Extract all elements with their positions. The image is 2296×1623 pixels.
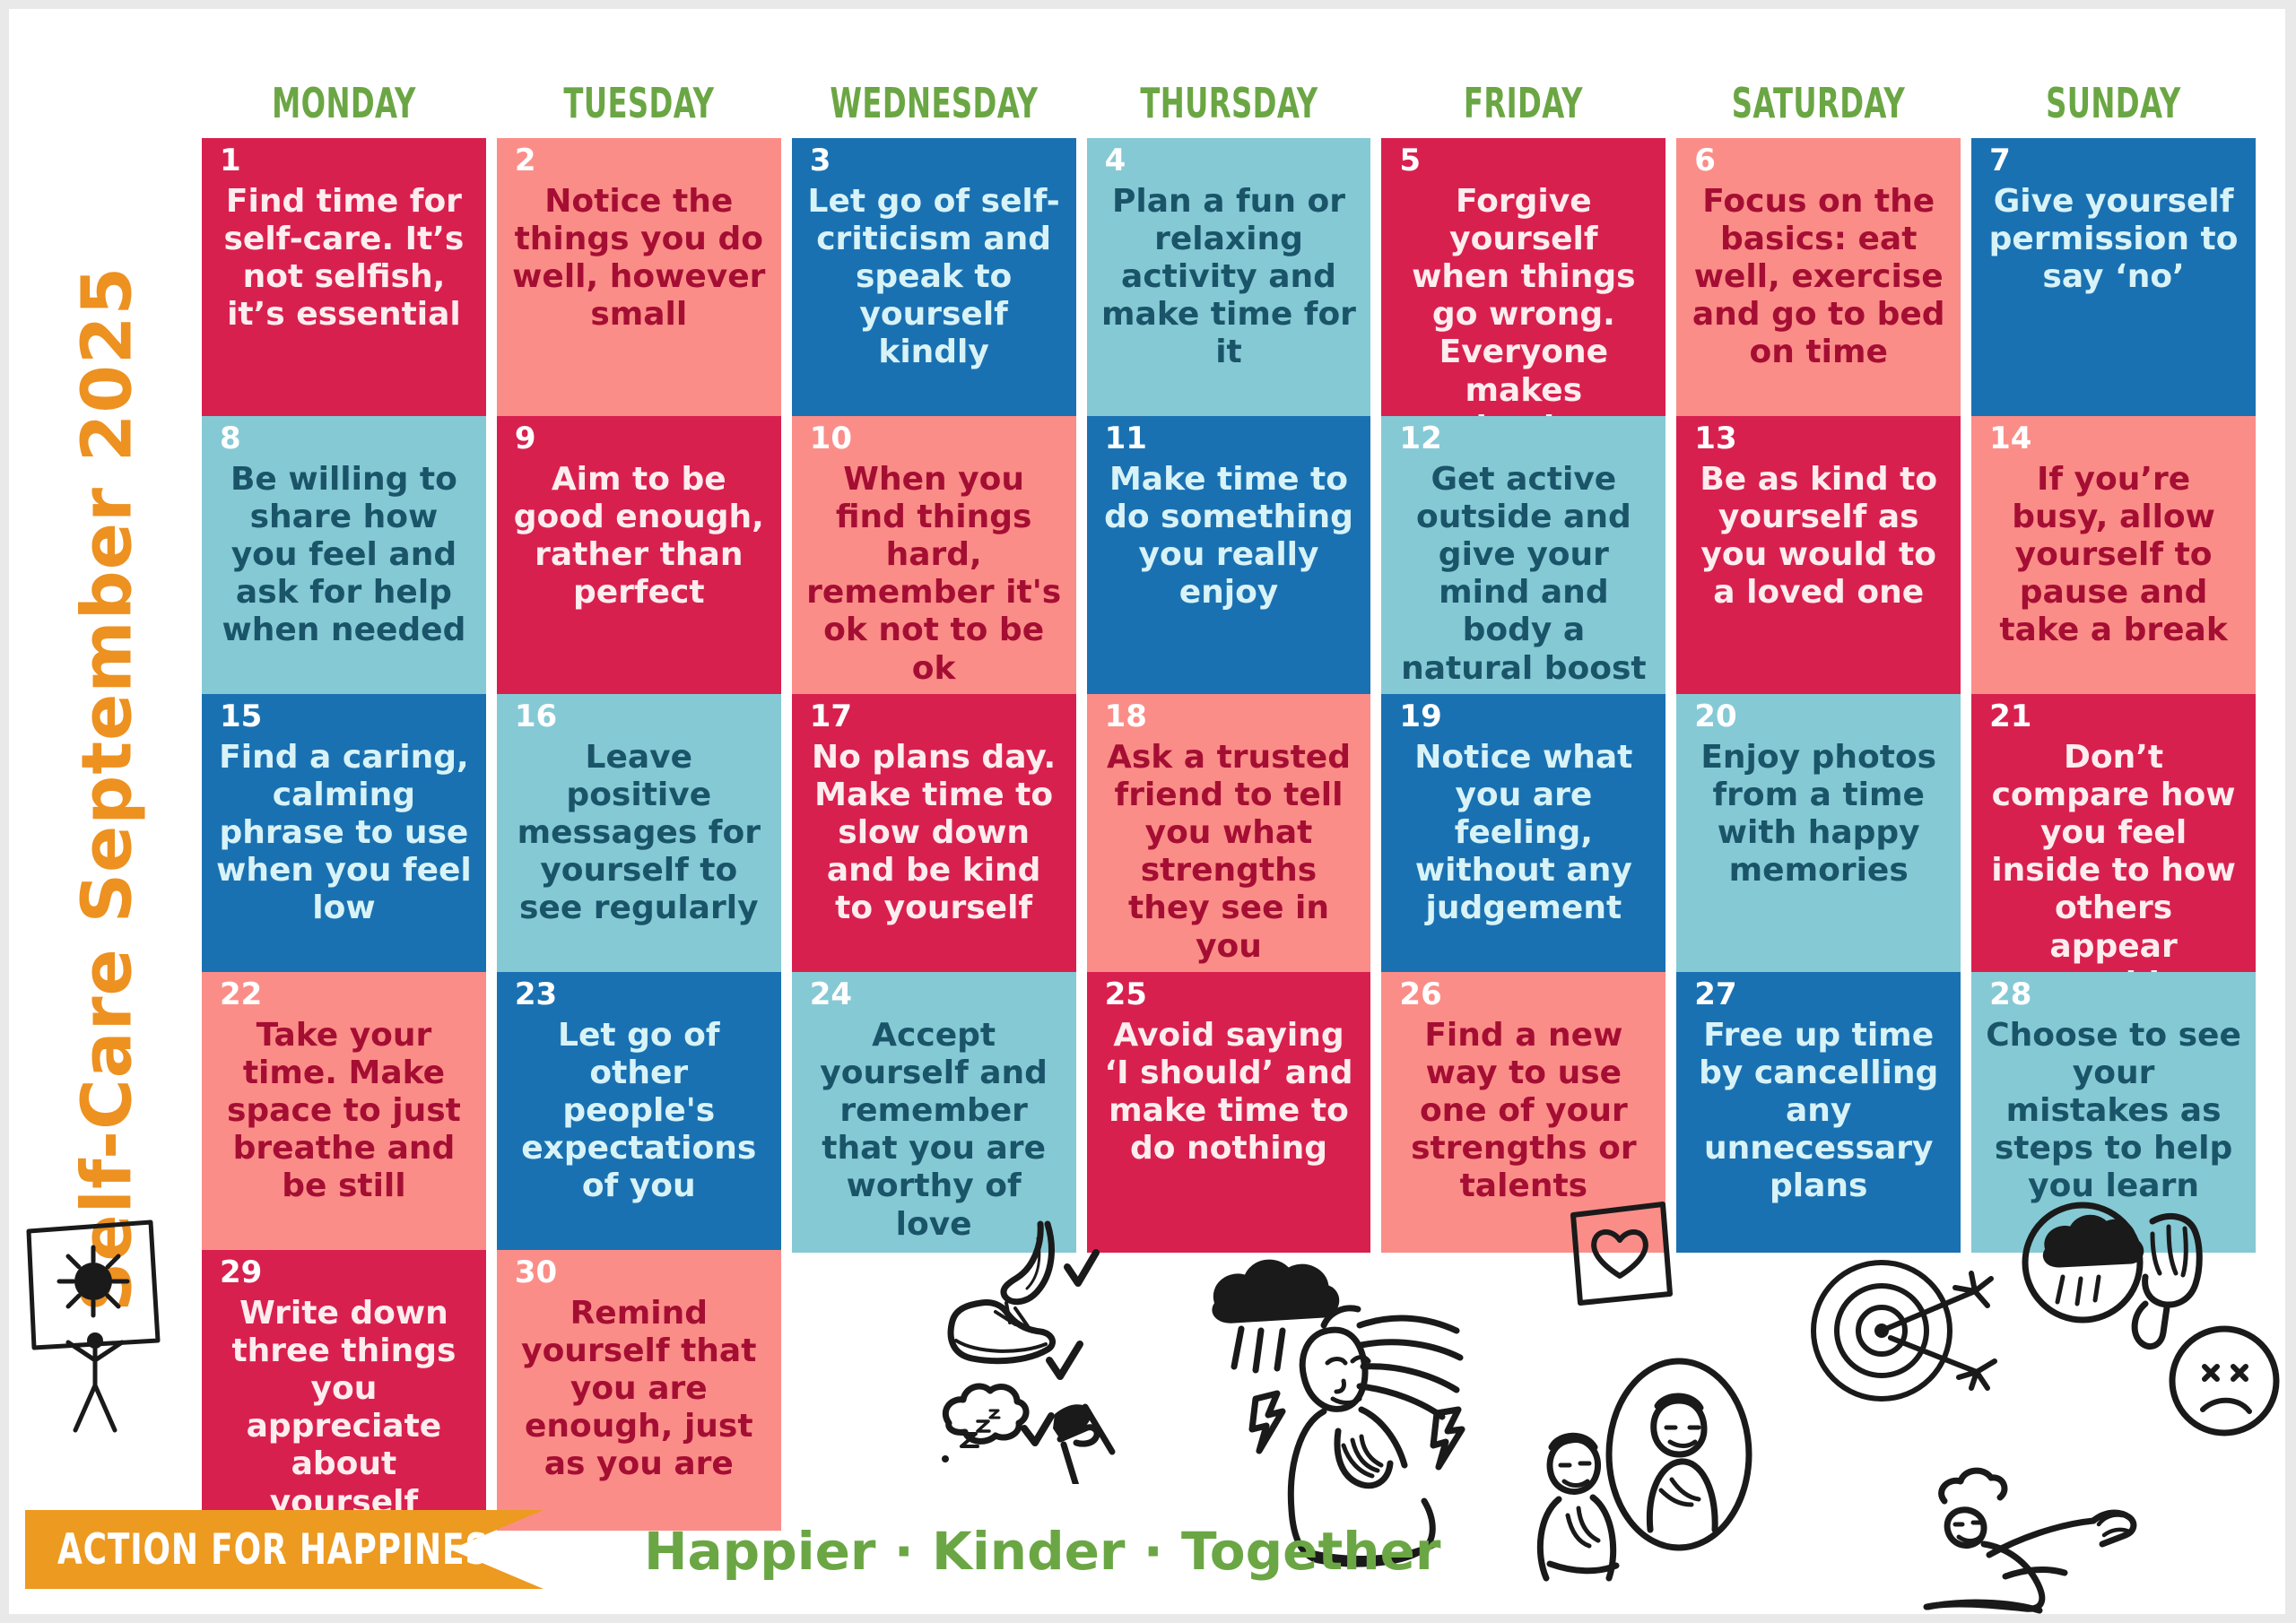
day-number: 5 [1399,145,1421,176]
calendar-day-cell[interactable]: 3Let go of self-criticism and speak to y… [792,138,1076,456]
calendar-week-row: 22Take your time. Make space to just bre… [202,972,2256,1228]
weekday-header-saturday: SATURDAY [1708,79,1929,127]
day-number: 30 [515,1257,557,1288]
brand-label: ACTION FOR HAPPINESS [57,1525,511,1575]
weekday-header-row: MONDAY TUESDAY WEDNESDAY THURSDAY FRIDAY… [202,79,2256,127]
person-holding-sun-sign-doodle [16,1206,178,1439]
footer-banner: ACTION FOR HAPPINESS Happier · Kinder · … [25,1510,2267,1589]
self-care-calendar-poster: Self-Care September 2025 MONDAY TUESDAY … [9,9,2285,1614]
day-number: 3 [810,145,831,176]
day-action-text: When you find things hard, remember it's… [803,461,1065,688]
weekday-header-tuesday: TUESDAY [528,79,750,127]
day-action-text: If you’re busy, allow yourself to pause … [1982,461,2245,650]
day-action-text: Avoid saying ‘I should’ and make time to… [1098,1017,1361,1167]
day-number: 1 [220,145,241,176]
day-action-text: Give yourself permission to say ‘no’ [1982,183,2245,296]
calendar-day-cell[interactable]: 13Be as kind to yourself as you would to… [1676,416,1961,697]
day-number: 15 [220,701,262,732]
calendar-day-cell[interactable]: 20Enjoy photos from a time with happy me… [1676,694,1961,1012]
calendar-day-cell[interactable]: 4Plan a fun or relaxing activity and mak… [1087,138,1371,456]
archery-target-with-arrows-doodle [1785,1237,2009,1435]
day-number: 8 [220,423,241,454]
calendar-day-cell[interactable]: 23Let go of other people's expectations … [497,972,781,1253]
day-action-text: Let go of self-criticism and speak to yo… [803,183,1065,372]
calendar-day-cell[interactable]: 22Take your time. Make space to just bre… [202,972,486,1253]
day-action-text: Write down three things you appreciate a… [213,1295,475,1522]
calendar-day-cell[interactable]: 2Notice the things you do well, however … [497,138,781,456]
day-action-text: Remind yourself that you are enough, jus… [508,1295,770,1484]
weekday-header-thursday: THURSDAY [1118,79,1339,127]
calendar-day-cell[interactable]: 7Give yourself permission to say ‘no’ [1971,138,2256,456]
day-action-text: Find a new way to use one of your streng… [1392,1017,1655,1206]
day-action-text: Plan a fun or relaxing activity and make… [1098,183,1361,372]
calendar-day-cell[interactable]: 14If you’re busy, allow yourself to paus… [1971,416,2256,697]
calendar-day-cell[interactable]: 16Leave positive messages for yourself t… [497,694,781,1012]
day-action-text: Accept yourself and remember that you ar… [803,1017,1065,1244]
day-number: 6 [1694,145,1716,176]
tagline: Happier · Kinder · Together [644,1514,1440,1589]
action-for-happiness-flag[interactable]: ACTION FOR HAPPINESS [25,1510,544,1589]
rain-cloud-thumbs-down-sad-face-doodle [2018,1202,2285,1462]
day-number: 29 [220,1257,262,1288]
day-number: 25 [1105,979,1147,1010]
day-action-text: Focus on the basics: eat well, exercise … [1687,183,1950,372]
day-action-text: Let go of other people's expectations of… [508,1017,770,1206]
day-action-text: Get active outside and give your mind an… [1392,461,1655,688]
calendar-day-cell[interactable]: 15Find a caring, calming phrase to use w… [202,694,486,1012]
day-number: 24 [810,979,852,1010]
day-action-text: Be willing to share how you feel and ask… [213,461,475,650]
day-number: 19 [1399,701,1441,732]
day-action-text: No plans day. Make time to slow down and… [803,739,1065,928]
day-action-text: Take your time. Make space to just breat… [213,1017,475,1206]
weekday-header-monday: MONDAY [233,79,455,127]
day-action-text: Find a caring, calming phrase to use whe… [213,739,475,928]
calendar-day-cell[interactable]: 24Accept yourself and remember that you … [792,972,1076,1253]
day-number: 23 [515,979,557,1010]
weekday-header-wednesday: WEDNESDAY [823,79,1045,127]
day-number: 27 [1694,979,1736,1010]
calendar-day-cell[interactable]: 18Ask a trusted friend to tell you what … [1087,694,1371,1012]
day-number: 17 [810,701,852,732]
calendar-day-cell[interactable]: 29Write down three things you appreciate… [202,1250,486,1531]
day-action-text: Forgive yourself when things go wrong. E… [1392,183,1655,447]
day-action-text: Find time for self-care. It’s not selfis… [213,183,475,334]
weekday-header-friday: FRIDAY [1413,79,1634,127]
calendar-day-cell[interactable]: 5Forgive yourself when things go wrong. … [1381,138,1665,456]
calendar-week-row: 15Find a caring, calming phrase to use w… [202,694,2256,950]
calendar-week-row: 8Be willing to share how you feel and as… [202,416,2256,672]
day-action-text: Enjoy photos from a time with happy memo… [1687,739,1950,890]
day-number: 9 [515,423,536,454]
calendar-week-row: 1Find time for self-care. It’s not selfi… [202,138,2256,394]
day-number: 14 [1989,423,2031,454]
day-action-text: Don’t compare how you feel inside to how… [1982,739,2245,1003]
day-action-text: Free up time by cancelling any unnecessa… [1687,1017,1950,1206]
day-action-text: Ask a trusted friend to tell you what st… [1098,739,1361,966]
page-title: Self-Care September 2025 [68,266,148,1312]
calendar-day-cell[interactable]: 25Avoid saying ‘I should’ and make time … [1087,972,1371,1253]
calendar-day-cell[interactable]: 17No plans day. Make time to slow down a… [792,694,1076,1012]
calendar-day-cell[interactable]: 30Remind yourself that you are enough, j… [497,1250,781,1531]
day-number: 7 [1989,145,2011,176]
heart-photo-doodle [1561,1197,1677,1314]
day-number: 18 [1105,701,1147,732]
day-number: 13 [1694,423,1736,454]
calendar-day-cell[interactable]: 11Make time to do something you really e… [1087,416,1371,697]
calendar-day-cell[interactable]: 6Focus on the basics: eat well, exercise… [1676,138,1961,456]
day-action-text: Notice the things you do well, however s… [508,183,770,334]
calendar-day-cell[interactable]: 12Get active outside and give your mind … [1381,416,1665,697]
day-number: 20 [1694,701,1736,732]
day-number: 4 [1105,145,1126,176]
day-action-text: Be as kind to yourself as you would to a… [1687,461,1950,612]
day-number: 11 [1105,423,1147,454]
banana-shoe-sleep-toothbrush-checklist-doodle [942,1215,1175,1484]
day-number: 12 [1399,423,1441,454]
day-number: 22 [220,979,262,1010]
calendar-day-cell[interactable]: 21Don’t compare how you feel inside to h… [1971,694,2256,1012]
calendar-day-cell[interactable]: 19Notice what you are feeling, without a… [1381,694,1665,1012]
day-number: 21 [1989,701,2031,732]
day-number: 16 [515,701,557,732]
day-action-text: Notice what you are feeling, without any… [1392,739,1655,928]
calendar-day-cell[interactable]: 1Find time for self-care. It’s not selfi… [202,138,486,456]
day-action-text: Aim to be good enough, rather than perfe… [508,461,770,612]
day-action-text: Leave positive messages for yourself to … [508,739,770,928]
day-number: 2 [515,145,536,176]
day-number: 10 [810,423,852,454]
day-action-text: Choose to see your mistakes as steps to … [1982,1017,2245,1206]
calendar-day-cell[interactable]: 9Aim to be good enough, rather than perf… [497,416,781,697]
day-number: 28 [1989,979,2031,1010]
weekday-header-sunday: SUNDAY [2003,79,2224,127]
day-number: 26 [1399,979,1441,1010]
calendar-day-cell[interactable]: 27Free up time by cancelling any unneces… [1676,972,1961,1253]
calendar-day-cell[interactable]: 8Be willing to share how you feel and as… [202,416,486,697]
calendar-day-cell[interactable]: 10When you find things hard, remember it… [792,416,1076,697]
day-action-text: Make time to do something you really enj… [1098,461,1361,612]
